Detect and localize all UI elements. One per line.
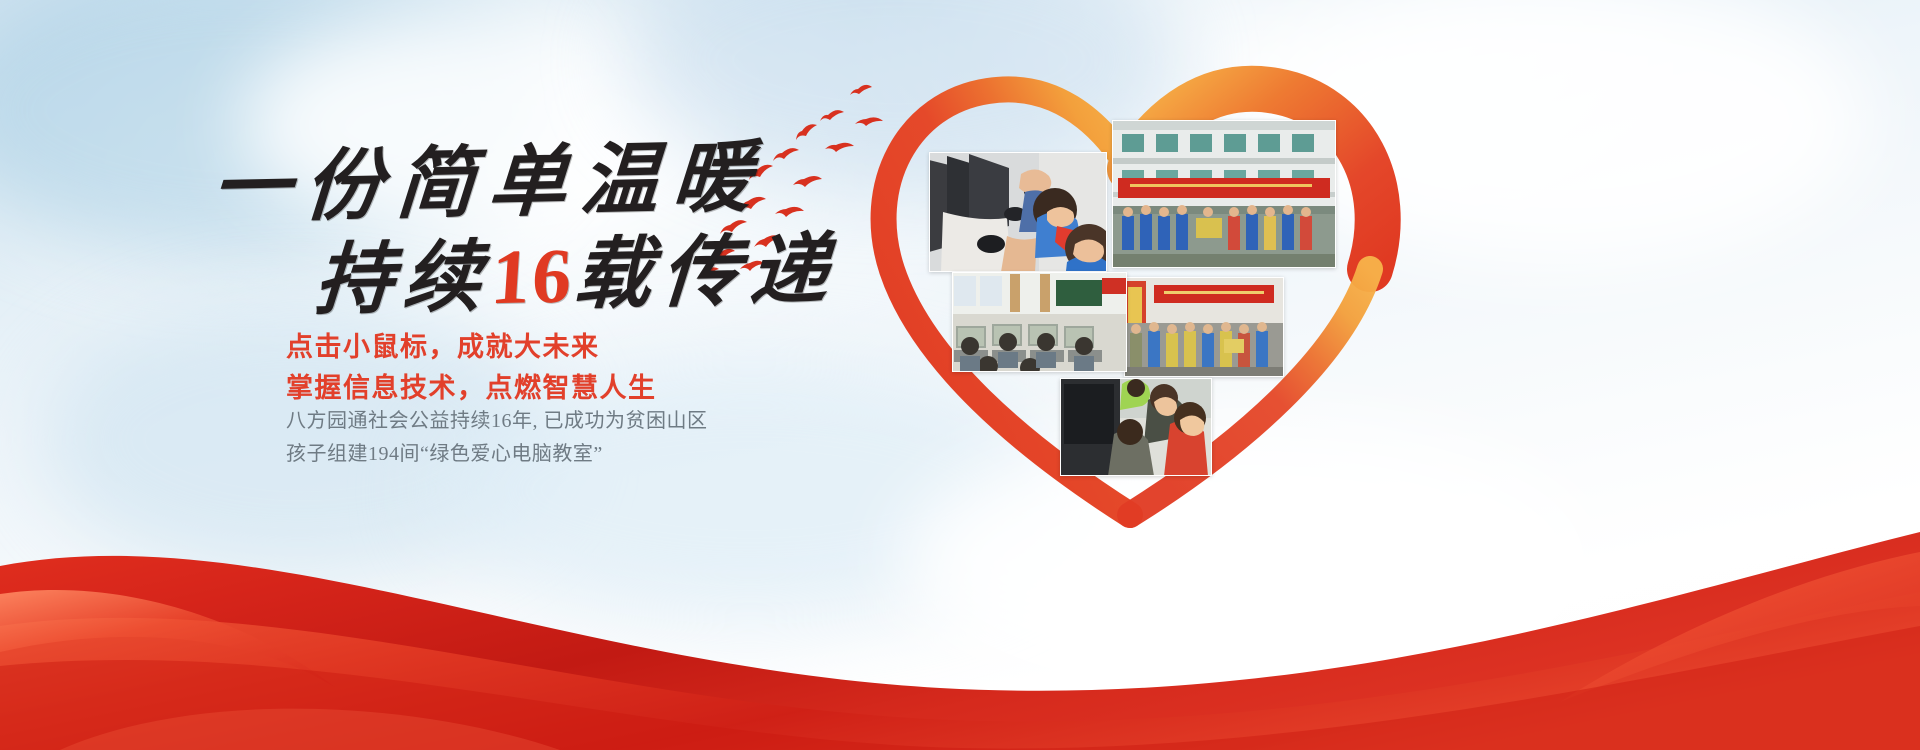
charity-banner: 一份简单温暖 持续16载传递 点击小鼠标，成就大未来 掌握信息技术，点燃智慧人生… [0, 0, 1920, 750]
headline-line-1: 一份简单温暖 [209, 138, 783, 228]
subtitle-line-1: 点击小鼠标，成就大未来 [286, 327, 926, 368]
photo-computer-lab-students [929, 152, 1107, 272]
photo-donation-ceremony-school [1112, 120, 1336, 268]
photo-computer-classroom-wide [952, 272, 1127, 372]
photo-students-at-monitors [1060, 378, 1212, 476]
photo-group-ceremony-indoor [1124, 277, 1284, 377]
headline-line-2-after: 载传递 [571, 226, 841, 319]
headline-years-number: 16 [488, 232, 576, 321]
headline-line-2-before: 持续 [312, 233, 494, 324]
subtitle-line-2: 掌握信息技术，点燃智慧人生 [286, 368, 926, 409]
headline: 一份简单温暖 持续16载传递 [0, 150, 780, 320]
subtitle: 点击小鼠标，成就大未来 掌握信息技术，点燃智慧人生 [286, 327, 926, 409]
headline-line-2: 持续16载传递 [312, 232, 783, 320]
red-silk-wave [0, 420, 1920, 750]
